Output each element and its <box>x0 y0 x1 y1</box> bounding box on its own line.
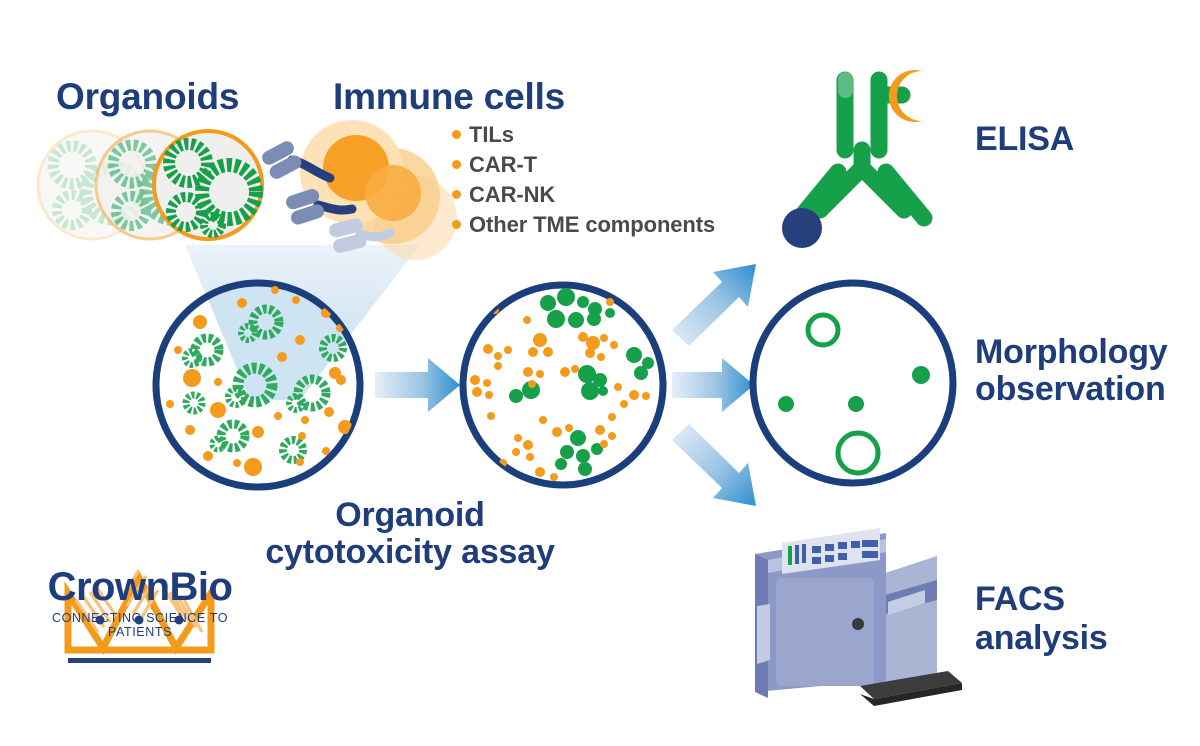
cytometer-knob <box>852 618 864 630</box>
list-item-label: CAR-NK <box>469 182 555 208</box>
arrow-to-elisa <box>672 264 756 346</box>
immune-cells-list: TILs CAR-T CAR-NK Other TME components <box>452 122 732 242</box>
morphology-label-line1: Morphology <box>975 334 1168 371</box>
crownbio-logo: CrownBio CONNECTING SCIENCE TO PATIENTS <box>30 563 250 639</box>
list-item: CAR-NK <box>452 182 732 208</box>
flow-cytometer-icon <box>755 528 962 706</box>
facs-label: FACS analysis <box>975 580 1200 658</box>
list-item: Other TME components <box>452 212 732 238</box>
list-item: CAR-T <box>452 152 732 178</box>
antibody-label-bead <box>782 208 822 248</box>
assay-caption: Organoid cytotoxicity assay <box>245 497 575 572</box>
arrow-to-facs <box>672 424 756 506</box>
assay-caption-line1: Organoid <box>245 497 575 534</box>
bullet-dot-icon <box>452 220 461 229</box>
logo-tagline: CONNECTING SCIENCE TO PATIENTS <box>30 611 250 639</box>
bullet-dot-icon <box>452 130 461 139</box>
logo-wordmark: CrownBio <box>30 565 250 610</box>
list-item-label: TILs <box>469 122 514 148</box>
list-item-label: CAR-T <box>469 152 537 178</box>
organoid-illustration <box>38 131 262 239</box>
organoids-heading: Organoids <box>56 76 239 118</box>
arrow-to-coculture <box>375 358 460 412</box>
antibody-icon <box>782 70 924 248</box>
elisa-label: ELISA <box>975 120 1074 159</box>
diagram-canvas: Organoids Immune cells TILs CAR-T CAR-NK… <box>0 0 1200 746</box>
immune-cells-heading: Immune cells <box>333 76 565 118</box>
arrow-to-morphology <box>672 358 754 412</box>
assay-caption-line2: cytotoxicity assay <box>245 534 575 571</box>
immune-cell-illustration <box>260 120 457 260</box>
bullet-dot-icon <box>452 190 461 199</box>
morphology-label: Morphology observation <box>975 334 1168 407</box>
post-killing-dish <box>753 283 953 483</box>
list-item: TILs <box>452 122 732 148</box>
morphology-label-line2: observation <box>975 371 1168 408</box>
coculture-dish <box>463 285 663 485</box>
antibody-tip <box>838 72 853 98</box>
list-item-label: Other TME components <box>469 212 715 238</box>
bullet-dot-icon <box>452 160 461 169</box>
crown-underline <box>68 658 211 663</box>
